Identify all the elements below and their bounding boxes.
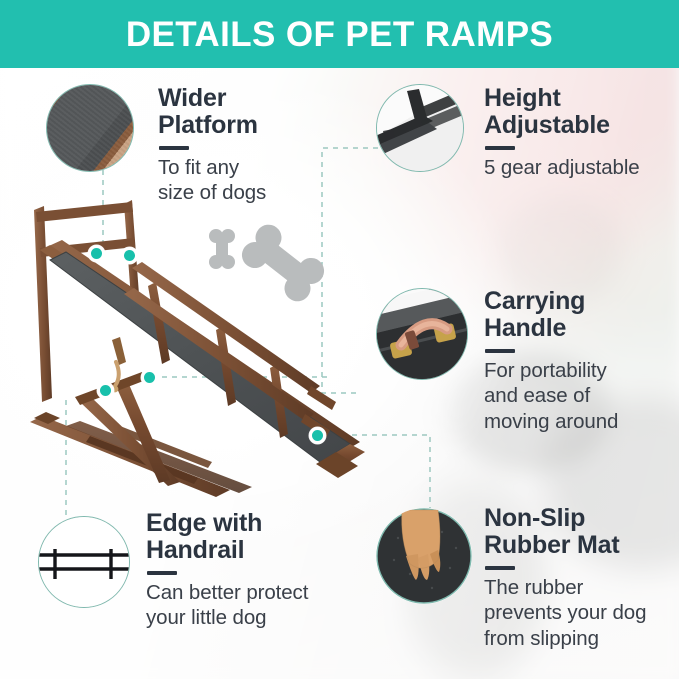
callout-dot-handle xyxy=(141,369,158,386)
callout-dot-support-leg xyxy=(97,382,114,399)
leather-handle-photo-icon xyxy=(376,288,468,380)
ramp-platform-photo-icon xyxy=(46,84,134,172)
callout-dot-mat-edge xyxy=(309,427,326,444)
feature-title: Edge with Handrail xyxy=(146,510,356,564)
feature-title: Height Adjustable xyxy=(484,85,679,139)
callout-dot-platform-top xyxy=(88,245,105,262)
feature-desc: To fit any size of dogs xyxy=(158,155,338,207)
feature-desc: Can better protect your little dog xyxy=(146,580,356,632)
feature-title: Non-Slip Rubber Mat xyxy=(484,505,679,559)
page-title: DETAILS OF PET RAMPS xyxy=(126,17,553,52)
feature-title: Wider Platform xyxy=(158,85,338,139)
title-rule xyxy=(485,349,515,353)
header-banner: DETAILS OF PET RAMPS xyxy=(0,0,679,68)
product-image-pet-ramp xyxy=(20,190,380,500)
infographic-canvas: DETAILS OF PET RAMPS xyxy=(0,0,679,679)
feature-title: Carrying Handle xyxy=(484,288,679,342)
dog-paw-on-mat-photo-icon xyxy=(376,508,472,604)
title-rule xyxy=(159,146,189,150)
title-rule xyxy=(147,571,177,575)
callout-dot-handrail-upper xyxy=(121,247,138,264)
metal-bracket-photo-icon xyxy=(376,84,464,172)
handrail-line-icon xyxy=(38,516,130,608)
title-rule xyxy=(485,566,515,570)
feature-desc: 5 gear adjustable xyxy=(484,155,679,181)
feature-desc: For portability and ease of moving aroun… xyxy=(484,358,679,435)
feature-desc: The rubber prevents your dog from slippi… xyxy=(484,575,679,652)
title-rule xyxy=(485,146,515,150)
